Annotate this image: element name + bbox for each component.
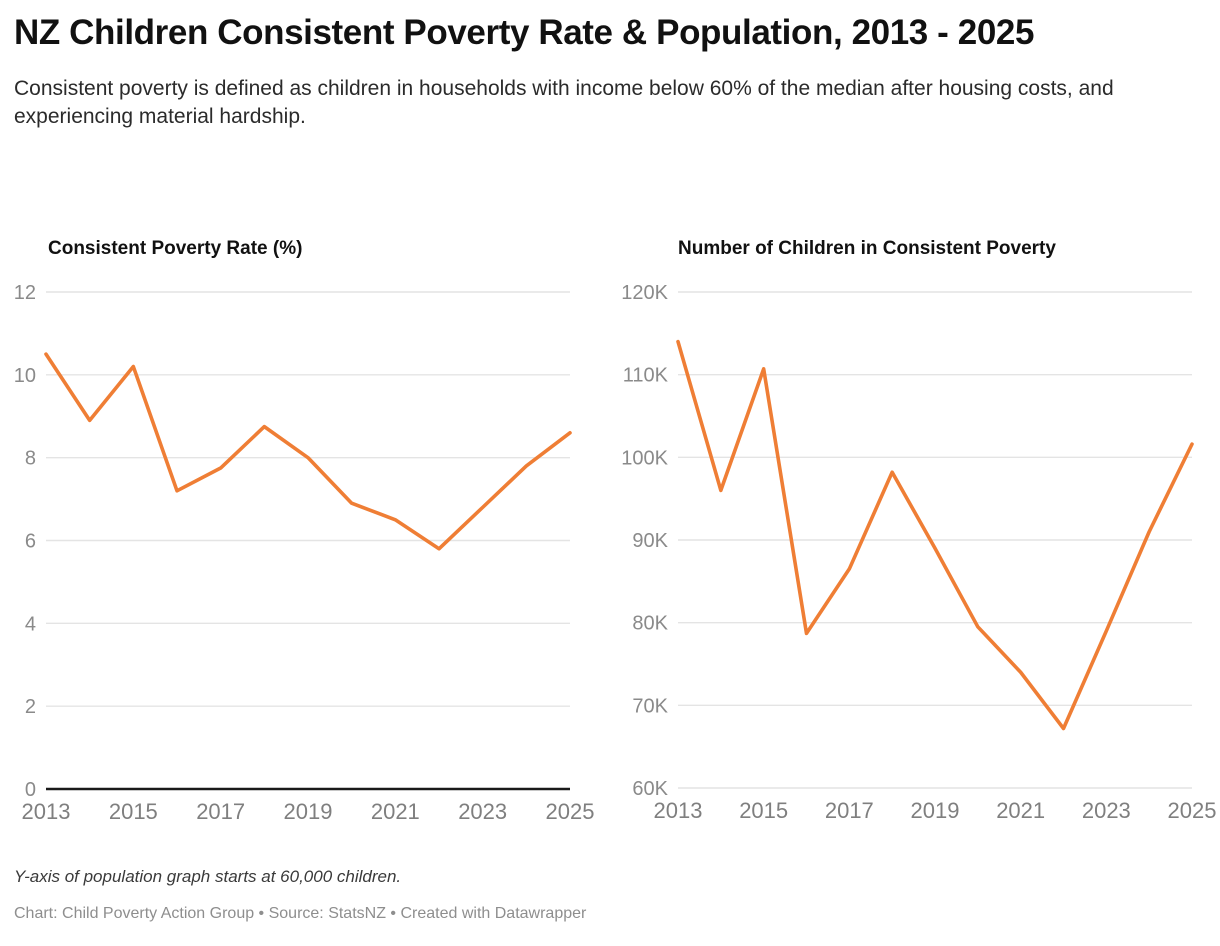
y-axis-tick-label: 0 <box>25 779 36 801</box>
y-axis-tick-label: 8 <box>25 448 36 470</box>
line-chart-poverty-rate: 1210864202013201520172019202120232025 <box>0 228 610 838</box>
x-axis-tick-label: 2023 <box>1082 798 1131 823</box>
x-axis-tick-label: 2017 <box>825 798 874 823</box>
plot-poverty-rate: 1210864202013201520172019202120232025 <box>0 228 610 838</box>
plot-child-count: 120K110K100K90K80K70K60K2013201520172019… <box>610 228 1220 838</box>
y-axis-tick-label: 120K <box>621 282 668 304</box>
chart-page: NZ Children Consistent Poverty Rate & Po… <box>0 0 1220 946</box>
x-axis-tick-label: 2019 <box>911 798 960 823</box>
x-axis-tick-label: 2025 <box>546 799 595 824</box>
panel-poverty-rate: Consistent Poverty Rate (%) 121086420201… <box>0 228 610 838</box>
x-axis-tick-label: 2015 <box>109 799 158 824</box>
line-chart-child-count: 120K110K100K90K80K70K60K2013201520172019… <box>610 228 1220 838</box>
x-axis-tick-label: 2025 <box>1168 798 1217 823</box>
y-axis-tick-label: 10 <box>14 365 36 387</box>
y-axis-tick-label: 2 <box>25 696 36 718</box>
data-line <box>46 354 570 549</box>
page-subtitle: Consistent poverty is defined as childre… <box>14 53 1189 131</box>
x-axis-tick-label: 2021 <box>371 799 420 824</box>
y-axis-tick-label: 90K <box>632 530 668 552</box>
y-axis-tick-label: 80K <box>632 613 668 635</box>
chart-panels: Consistent Poverty Rate (%) 121086420201… <box>0 228 1220 838</box>
x-axis-tick-label: 2013 <box>654 798 703 823</box>
footnote: Y-axis of population graph starts at 60,… <box>14 867 401 887</box>
panel-child-count: Number of Children in Consistent Poverty… <box>610 228 1220 838</box>
x-axis-tick-label: 2017 <box>196 799 245 824</box>
y-axis-tick-label: 6 <box>25 531 36 553</box>
y-axis-tick-label: 100K <box>621 447 668 469</box>
y-axis-tick-label: 4 <box>25 613 36 635</box>
x-axis-tick-label: 2023 <box>458 799 507 824</box>
x-axis-tick-label: 2013 <box>22 799 71 824</box>
credit-line: Chart: Child Poverty Action Group • Sour… <box>14 905 586 923</box>
page-title: NZ Children Consistent Poverty Rate & Po… <box>14 0 1174 53</box>
x-axis-tick-label: 2015 <box>739 798 788 823</box>
y-axis-tick-label: 12 <box>14 282 36 304</box>
data-line <box>678 342 1192 729</box>
y-axis-tick-label: 110K <box>623 365 669 387</box>
y-axis-tick-label: 60K <box>632 778 668 800</box>
y-axis-tick-label: 70K <box>632 695 668 717</box>
x-axis-tick-label: 2021 <box>996 798 1045 823</box>
x-axis-tick-label: 2019 <box>284 799 333 824</box>
